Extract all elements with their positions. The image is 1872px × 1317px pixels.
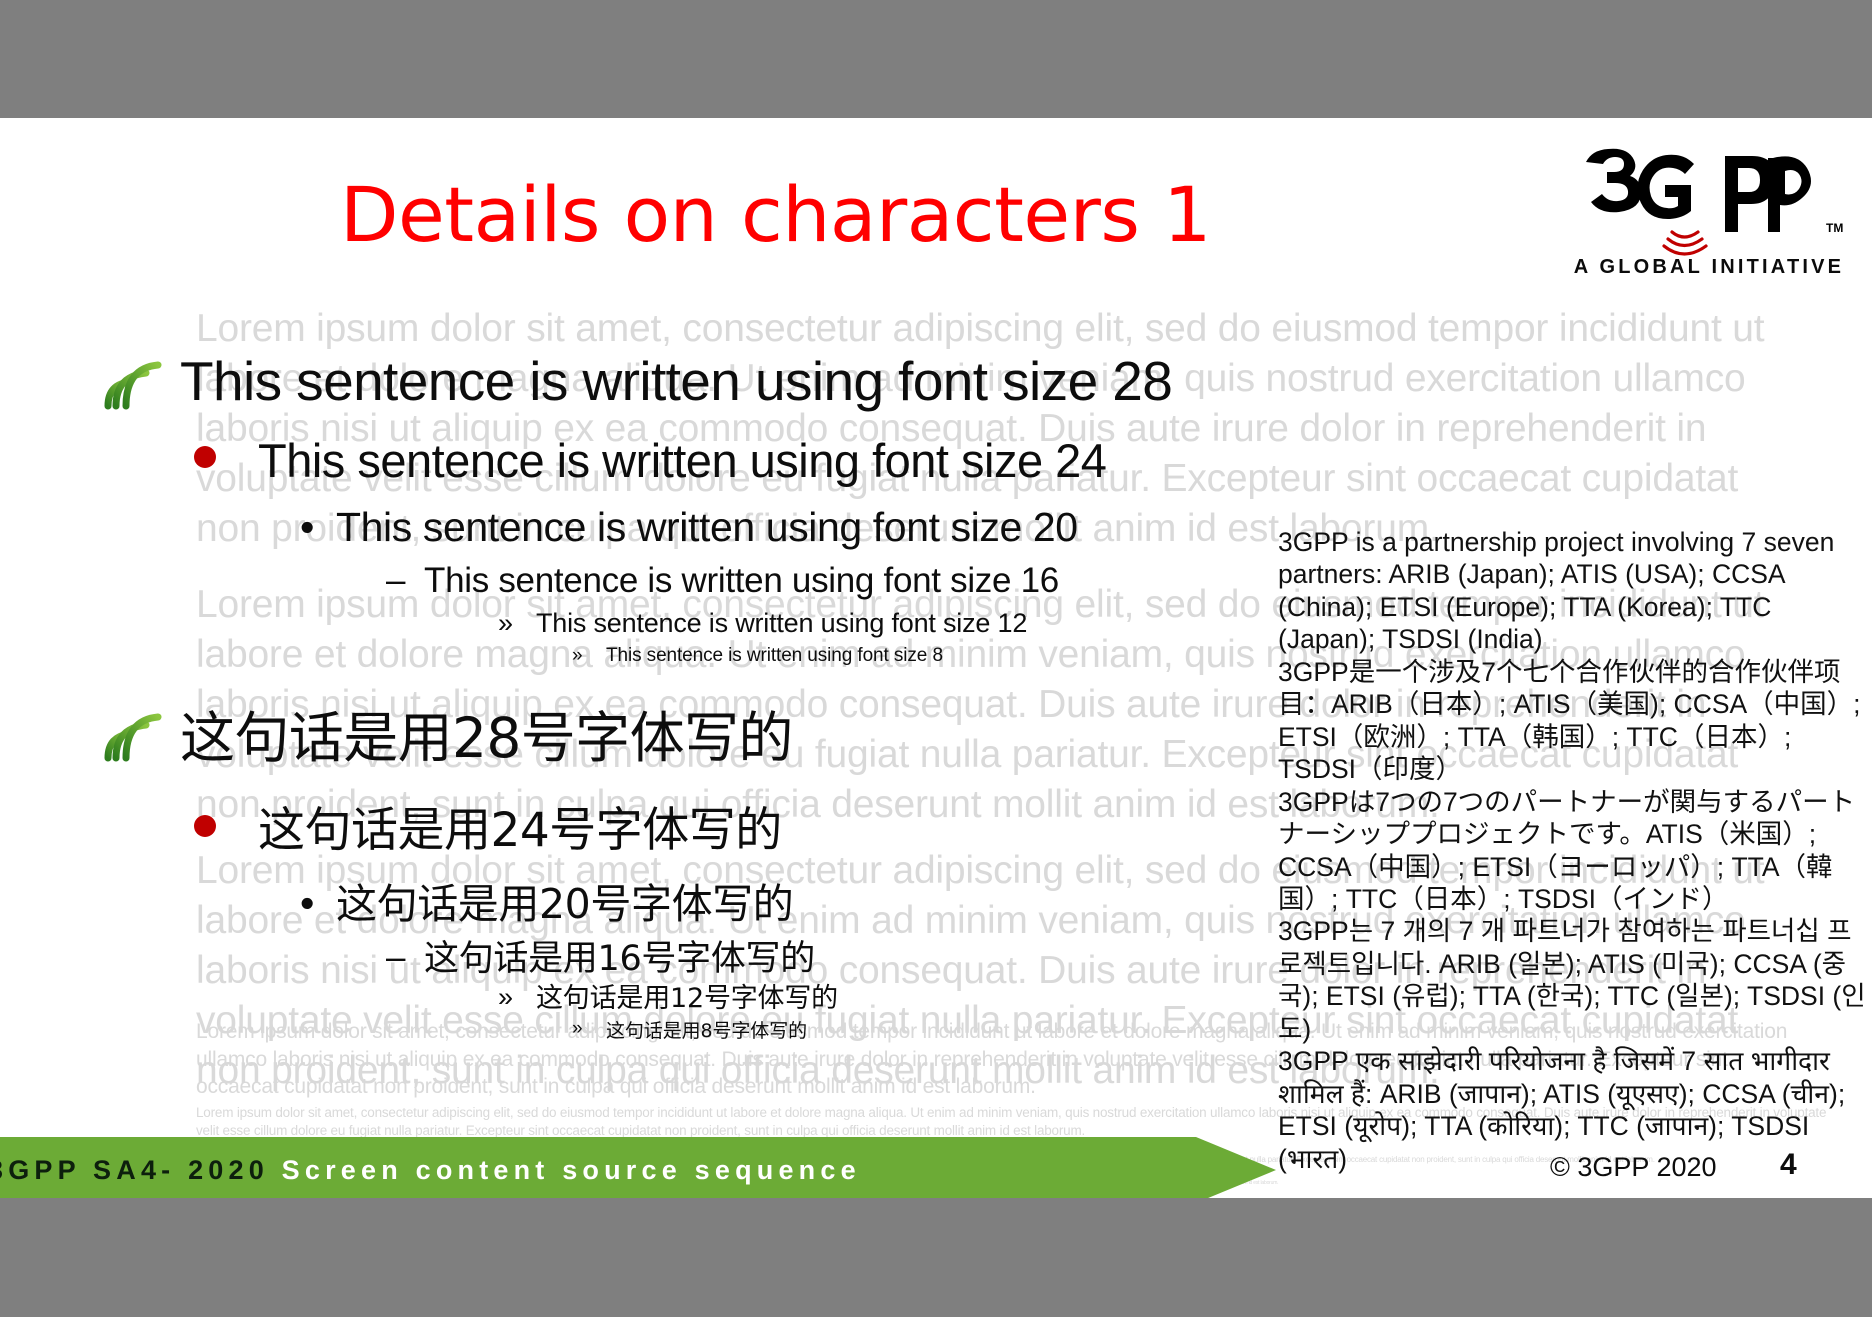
info-japanese: 3GPPは7つの7つのパートナーが関与するパートナーシッププロジェクトです。AT…: [1278, 786, 1872, 916]
info-chinese: 3GPP是一个涉及7个七个合作伙伴的合作伙伴项目：ARIB（日本）; ATIS（…: [1278, 656, 1872, 786]
dash-bullet-mark-cjk: –: [386, 938, 405, 978]
footer-label-light: Screen content source sequence: [282, 1155, 861, 1185]
guillemet-bullet-mark-small: »: [572, 645, 582, 667]
latin-bullet-12: This sentence is written using font size…: [536, 608, 1027, 639]
partnership-info-block: 3GPP is a partnership project involving …: [1278, 526, 1872, 1175]
latin-bullet-8: This sentence is written using font size…: [606, 645, 943, 667]
dot-bullet-mark-cjk: •: [300, 880, 314, 927]
info-korean: 3GPP는 7 개의 7 개 파트너가 참여하는 파트너십 프로젝트입니다. A…: [1278, 915, 1872, 1045]
dot-bullet-icon: [194, 446, 216, 468]
cjk-bullet-8: 这句话是用8号字体写的: [606, 1016, 807, 1043]
latin-bullet-24: This sentence is written using font size…: [258, 433, 1106, 488]
latin-bullet-28: This sentence is written using font size…: [180, 349, 1172, 413]
window-chrome-bottom: [0, 1198, 1872, 1317]
cjk-bullet-20: 这句话是用20号字体写的: [336, 870, 793, 930]
swoosh-bullet-icon: [104, 358, 162, 410]
latin-bullet-20: This sentence is written using font size…: [336, 504, 1078, 551]
window-chrome-top: [0, 0, 1872, 118]
footer-page-number: 4: [1780, 1148, 1797, 1182]
footer-copyright: © 3GPP 2020: [1550, 1152, 1717, 1183]
cjk-bullet-12: 这句话是用12号字体写的: [536, 976, 838, 1015]
cjk-bullet-28: 这句话是用28号字体写的: [180, 693, 793, 773]
slide-canvas: Lorem ipsum dolor sit amet, consectetur …: [0, 118, 1872, 1198]
dot-bullet-icon-cjk: [194, 815, 216, 837]
guillemet-bullet-mark: »: [498, 608, 513, 639]
cjk-bullet-24: 这句话是用24号字体写的: [258, 791, 782, 860]
dot-bullet-mark: •: [300, 504, 314, 551]
swoosh-bullet-icon-cjk: [104, 710, 162, 762]
guillemet-bullet-mark-cjk: »: [498, 982, 513, 1013]
footer-label: 3GPP SA4- 2020 Screen content source seq…: [0, 1150, 861, 1190]
cjk-bullet-16: 这句话是用16号字体写的: [424, 930, 815, 981]
latin-bullet-16: This sentence is written using font size…: [424, 561, 1059, 601]
dash-bullet-mark: –: [386, 561, 405, 601]
guillemet-bullet-mark-cjk-small: »: [572, 1018, 582, 1040]
info-english: 3GPP is a partnership project involving …: [1278, 526, 1872, 656]
footer-label-dark: 3GPP SA4- 2020: [0, 1155, 269, 1185]
